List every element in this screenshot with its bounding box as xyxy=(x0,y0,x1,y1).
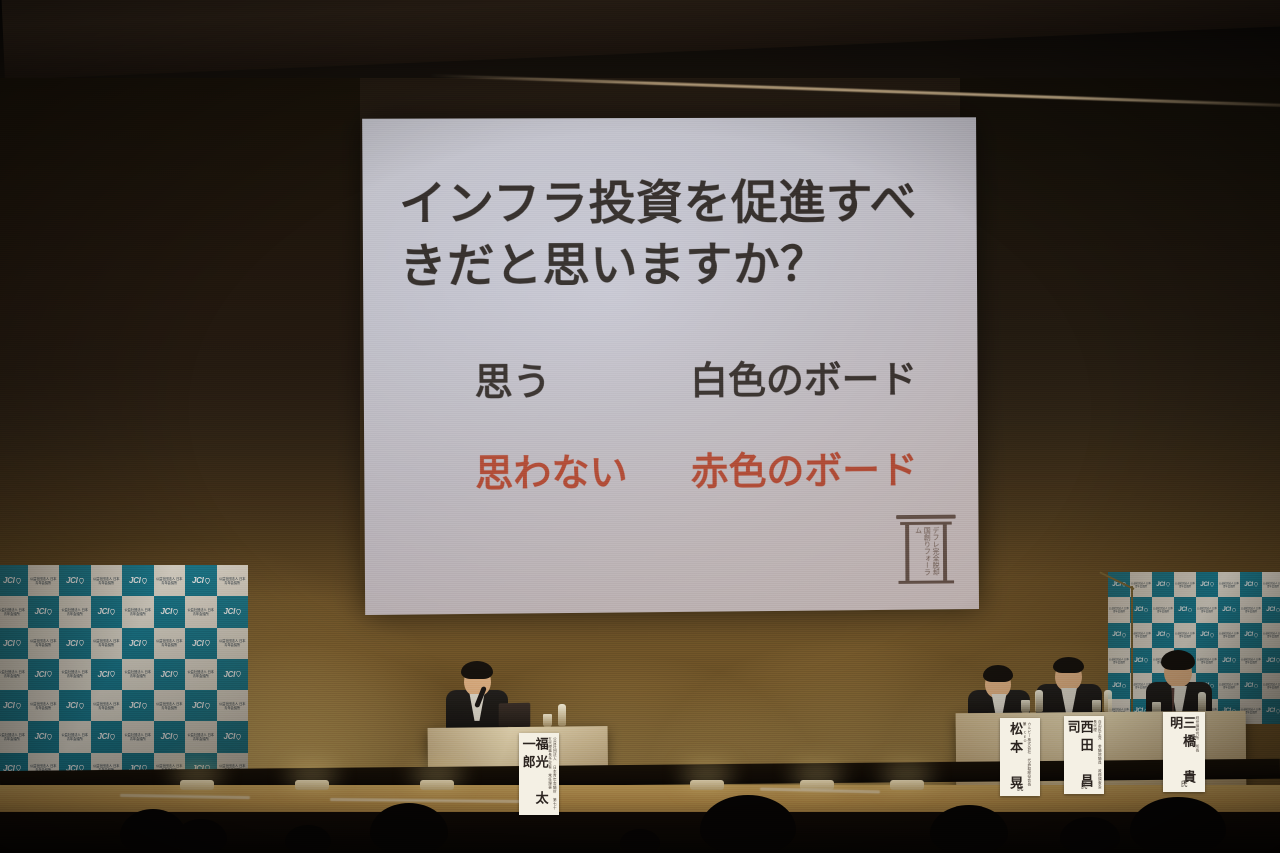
jci-logo: JCI xyxy=(160,607,178,616)
nameplate-honorific: 氏 xyxy=(1163,779,1205,789)
projection-screen: インフラ投資を促進すべきだと思いますか？ 思う 白色のボード 思わない 赤色のボ… xyxy=(362,117,979,615)
jci-logo: JCI xyxy=(1134,607,1147,613)
location-pin-icon xyxy=(79,578,84,584)
backdrop-tile-logo: JCI xyxy=(1240,623,1262,648)
location-pin-icon xyxy=(79,703,84,709)
jci-logo: JCI xyxy=(66,639,84,648)
jci-logo: JCI xyxy=(1156,632,1169,638)
backdrop-tile-logo: JCI xyxy=(1262,597,1280,622)
audience-head-group xyxy=(0,795,1280,853)
backdrop-caption: 公益社団法人 日本青年会議所 xyxy=(122,670,154,678)
audience-head xyxy=(370,803,448,853)
backdrop-tile-caption: 公益社団法人 日本青年会議所 xyxy=(1152,597,1174,622)
location-pin-icon xyxy=(16,703,21,709)
backdrop-caption: 公益社団法人 日本青年会議所 xyxy=(1196,607,1218,613)
nameplate-name: 福光 太一郎 xyxy=(521,737,547,815)
location-pin-icon xyxy=(173,609,178,615)
backdrop-tile-caption: 公益社団法人 日本青年会議所 xyxy=(91,565,123,596)
backdrop-caption: 公益社団法人 日本青年会議所 xyxy=(91,639,123,647)
jci-logo: JCI xyxy=(129,576,147,585)
backdrop-tile-caption: 公益社団法人 日本青年会議所 xyxy=(1108,597,1130,622)
nameplate-honorific: 氏 xyxy=(1064,781,1104,791)
backdrop-caption: 公益社団法人 日本青年会議所 xyxy=(0,670,28,678)
backdrop-caption: 公益社団法人 日本青年会議所 xyxy=(28,702,60,710)
laptop xyxy=(499,703,531,728)
location-pin-icon xyxy=(1276,608,1280,613)
backdrop-tile-logo: JCI xyxy=(1196,623,1218,648)
backdrop-caption: 公益社団法人 日本青年会議所 xyxy=(1108,607,1130,613)
location-pin-icon xyxy=(236,671,241,677)
jci-logo: JCI xyxy=(97,607,115,616)
backdrop-tile-caption: 公益社団法人 日本青年会議所 xyxy=(185,659,217,690)
backdrop-tile-caption: 公益社団法人 日本青年会議所 xyxy=(1262,623,1280,648)
jci-logo: JCI xyxy=(34,732,52,741)
backdrop-tile-logo: JCI xyxy=(1218,648,1240,673)
footlight xyxy=(420,780,454,790)
location-pin-icon xyxy=(142,640,147,646)
backdrop-tile-caption: 公益社団法人 日本青年会議所 xyxy=(1108,648,1130,673)
backdrop-tile-logo: JCI xyxy=(91,596,123,627)
backdrop-tile-logo: JCI xyxy=(154,721,186,752)
wall-shadow-left xyxy=(0,78,360,598)
backdrop-tile-caption: 公益社団法人 日本青年会議所 xyxy=(122,659,154,690)
backdrop-tile-logo: JCI xyxy=(0,565,28,596)
jci-logo: JCI xyxy=(1266,658,1279,664)
nameplate-moderator: 福光 太一郎 公益社団法人 日本青年会議所 第七十五代理事長予定者 常任理事 xyxy=(519,733,559,815)
backdrop-caption: 公益社団法人 日本青年会議所 xyxy=(28,639,60,647)
backdrop-tile-caption: 公益社団法人 日本青年会議所 xyxy=(28,628,60,659)
location-pin-icon xyxy=(1276,709,1280,714)
location-pin-icon xyxy=(110,734,115,740)
backdrop-tile-caption: 公益社団法人 日本青年会議所 xyxy=(59,596,91,627)
backdrop-caption: 公益社団法人 日本青年会議所 xyxy=(154,639,186,647)
jci-logo: JCI xyxy=(1112,632,1125,638)
nameplate-honorific: 氏 xyxy=(1000,783,1040,793)
slide-logo-text: デフレ完全脱却国創りフォーラム xyxy=(914,527,940,579)
backdrop-caption: 公益社団法人 日本青年会議所 xyxy=(1152,607,1174,613)
location-pin-icon xyxy=(1122,684,1126,689)
slide-option-row: 思わない 赤色のボード xyxy=(475,439,955,498)
backdrop-tile-caption: 公益社団法人 日本青年会議所 xyxy=(0,659,28,690)
backdrop-caption: 公益社団法人 日本青年会議所 xyxy=(1218,582,1240,588)
backdrop-tile-caption: 公益社団法人 日本青年会議所 xyxy=(154,628,186,659)
slide-option-row: 思う 白色のボード xyxy=(474,348,954,406)
location-pin-icon xyxy=(236,734,241,740)
backdrop-caption: 公益社団法人 日本青年会議所 xyxy=(1262,683,1280,689)
audience-head xyxy=(1130,797,1226,853)
backdrop-caption: 公益社団法人 日本青年会議所 xyxy=(1262,582,1280,588)
backdrop-tile-caption: 公益社団法人 日本青年会議所 xyxy=(122,596,154,627)
jci-logo: JCI xyxy=(97,670,115,679)
backdrop-tile-logo: JCI xyxy=(1152,623,1174,648)
backdrop-caption: 公益社団法人 日本青年会議所 xyxy=(1262,632,1280,638)
drinking-glass xyxy=(1021,700,1030,713)
backdrop-caption: 公益社団法人 日本青年会議所 xyxy=(59,670,91,678)
backdrop-tile-logo: JCI xyxy=(91,721,123,752)
location-pin-icon xyxy=(173,671,178,677)
backdrop-tile-caption: 公益社団法人 日本青年会議所 xyxy=(1130,572,1152,597)
location-pin-icon xyxy=(205,578,210,584)
backdrop-caption: 公益社団法人 日本青年会議所 xyxy=(185,733,217,741)
jci-logo: JCI xyxy=(1244,582,1257,588)
backdrop-tile-logo: JCI xyxy=(1130,648,1152,673)
backdrop-caption: 公益社団法人 日本青年会議所 xyxy=(185,670,217,678)
jci-logo: JCI xyxy=(1244,683,1257,689)
jci-logo: JCI xyxy=(1222,658,1235,664)
backdrop-tile-logo: JCI xyxy=(1152,572,1174,597)
audience-head xyxy=(175,819,227,853)
option-answer: 思わない xyxy=(475,441,691,498)
backdrop-tile-caption: 公益社団法人 日本青年会議所 xyxy=(154,690,186,721)
jci-logo: JCI xyxy=(3,701,21,710)
jci-logo: JCI xyxy=(223,607,241,616)
backdrop-caption: 公益社団法人 日本青年会議所 xyxy=(1240,658,1262,664)
backdrop-caption: 公益社団法人 日本青年会議所 xyxy=(91,702,123,710)
backdrop-tile-logo: JCI xyxy=(28,721,60,752)
backdrop-caption: 公益社団法人 日本青年会議所 xyxy=(59,733,91,741)
backdrop-tile-caption: 公益社団法人 日本青年会議所 xyxy=(28,690,60,721)
backdrop-tile-logo: JCI xyxy=(1240,572,1262,597)
location-pin-icon xyxy=(1210,633,1214,638)
location-pin-icon xyxy=(1166,633,1170,638)
backdrop-tile-caption: 公益社団法人 日本青年会議所 xyxy=(1240,648,1262,673)
location-pin-icon xyxy=(16,640,21,646)
backdrop-tile-logo: JCI xyxy=(1218,597,1240,622)
backdrop-tile-caption: 公益社団法人 日本青年会議所 xyxy=(217,690,249,721)
location-pin-icon xyxy=(1232,658,1236,663)
backdrop-caption: 公益社団法人 日本青年会議所 xyxy=(1174,632,1196,638)
nameplate-mitsuhashi: 三橋 貴明 経世論研究所 所長 氏 xyxy=(1163,712,1205,792)
option-answer: 思う xyxy=(474,350,690,406)
backdrop-caption: 公益社団法人 日本青年会議所 xyxy=(217,639,249,647)
backdrop-tile-caption: 公益社団法人 日本青年会議所 xyxy=(1262,673,1280,698)
jci-logo: JCI xyxy=(129,639,147,648)
backdrop-tile-logo: JCI xyxy=(28,659,60,690)
backdrop-caption: 公益社団法人 日本青年会議所 xyxy=(154,702,186,710)
jci-logo: JCI xyxy=(1134,658,1147,664)
jci-logo: JCI xyxy=(1266,708,1279,714)
backdrop-tile-logo: JCI xyxy=(1196,572,1218,597)
backdrop-caption: 公益社団法人 日本青年会議所 xyxy=(0,608,28,616)
jci-logo: JCI xyxy=(160,670,178,679)
jci-logo: JCI xyxy=(1156,582,1169,588)
location-pin-icon xyxy=(79,640,84,646)
backdrop-caption: 公益社団法人 日本青年会議所 xyxy=(1130,632,1152,638)
backdrop-tile-caption: 公益社団法人 日本青年会議所 xyxy=(1174,572,1196,597)
backdrop-tile-logo: JCI xyxy=(0,690,28,721)
backdrop-tile-caption: 公益社団法人 日本青年会議所 xyxy=(1218,572,1240,597)
location-pin-icon xyxy=(205,703,210,709)
location-pin-icon xyxy=(16,578,21,584)
option-board: 白色のボード xyxy=(690,349,917,405)
backdrop-tile-caption: 公益社団法人 日本青年会議所 xyxy=(1218,673,1240,698)
jci-logo: JCI xyxy=(1200,582,1213,588)
backdrop-caption: 公益社団法人 日本青年会議所 xyxy=(1218,683,1240,689)
torii-gate-icon: デフレ完全脱却国創りフォーラム xyxy=(896,511,956,587)
backdrop-tile-caption: 公益社団法人 日本青年会議所 xyxy=(28,565,60,596)
backdrop-tile-caption: 公益社団法人 日本青年会議所 xyxy=(59,659,91,690)
backdrop-caption: 公益社団法人 日本青年会議所 xyxy=(185,608,217,616)
audience-head xyxy=(700,795,796,853)
backdrop-tile-logo: JCI xyxy=(0,628,28,659)
footlight xyxy=(295,780,329,790)
backdrop-tile-logo: JCI xyxy=(122,628,154,659)
backdrop-caption: 公益社団法人 日本青年会議所 xyxy=(1108,658,1130,664)
backdrop-tile-logo: JCI xyxy=(122,690,154,721)
footlight xyxy=(180,780,214,790)
jci-logo: JCI xyxy=(192,639,210,648)
option-board: 赤色のボード xyxy=(690,439,917,496)
jci-logo: JCI xyxy=(97,732,115,741)
jci-logo: JCI xyxy=(1112,683,1125,689)
location-pin-icon xyxy=(1254,582,1258,587)
backdrop-tile-caption: 公益社団法人 日本青年会議所 xyxy=(59,721,91,752)
conference-photo: CONFERENCE 2017 JCI インフラ投資を促進すべきだと思いますか？… xyxy=(0,0,1280,853)
nameplate-nishida: 西田 昌司 自由民主党 参議院議員 政務調査会長代理 氏 xyxy=(1064,716,1104,794)
backdrop-caption: 公益社団法人 日本青年会議所 xyxy=(154,577,186,585)
backdrop-tile-caption: 公益社団法人 日本青年会議所 xyxy=(1218,623,1240,648)
location-pin-icon xyxy=(47,609,52,615)
backdrop-tile-caption: 公益社団法人 日本青年会議所 xyxy=(154,565,186,596)
backdrop-tile-logo: JCI xyxy=(122,565,154,596)
slide-question: インフラ投資を促進すべきだと思いますか？ xyxy=(399,172,959,298)
jci-logo: JCI xyxy=(66,701,84,710)
footlight xyxy=(690,780,724,790)
jci-logo: JCI xyxy=(3,639,21,648)
location-pin-icon xyxy=(1122,633,1126,638)
location-pin-icon xyxy=(1166,582,1170,587)
backdrop-tile-logo: JCI xyxy=(59,690,91,721)
location-pin-icon xyxy=(236,609,241,615)
backdrop-tile-caption: 公益社団法人 日本青年会議所 xyxy=(0,596,28,627)
jci-logo: JCI xyxy=(1200,632,1213,638)
backdrop-tile-logo: JCI xyxy=(1130,597,1152,622)
jci-logo: JCI xyxy=(223,732,241,741)
location-pin-icon xyxy=(1232,608,1236,613)
jci-logo: JCI xyxy=(129,701,147,710)
backdrop-tile-logo: JCI xyxy=(154,596,186,627)
nameplate-title: 公益社団法人 日本青年会議所 第七十五代理事長予定者 常任理事 xyxy=(548,737,558,812)
water-bottle xyxy=(1104,690,1112,712)
water-bottle xyxy=(558,704,566,726)
jci-logo: JCI xyxy=(192,701,210,710)
backdrop-tile-caption: 公益社団法人 日本青年会議所 xyxy=(1196,597,1218,622)
jci-logo: JCI xyxy=(1178,607,1191,613)
backdrop-caption: 公益社団法人 日本青年会議所 xyxy=(1218,632,1240,638)
backdrop-caption: 公益社団法人 日本青年会議所 xyxy=(217,702,249,710)
backdrop-caption: 公益社団法人 日本青年会議所 xyxy=(122,733,154,741)
slide-options: 思う 白色のボード 思わない 赤色のボード xyxy=(474,348,954,533)
backdrop-tile-logo: JCI xyxy=(154,659,186,690)
location-pin-icon xyxy=(1144,608,1148,613)
location-pin-icon xyxy=(142,578,147,584)
backdrop-tile-caption: 公益社団法人 日本青年会議所 xyxy=(185,721,217,752)
jci-logo: JCI xyxy=(1266,607,1279,613)
jci-logo: JCI xyxy=(1222,607,1235,613)
backdrop-tile-logo: JCI xyxy=(1174,597,1196,622)
location-pin-icon xyxy=(1144,658,1148,663)
backdrop-tile-logo: JCI xyxy=(1262,648,1280,673)
backdrop-caption: 公益社団法人 日本青年会議所 xyxy=(1196,658,1218,664)
location-pin-icon xyxy=(1254,684,1258,689)
location-pin-icon xyxy=(1210,582,1214,587)
location-pin-icon xyxy=(110,671,115,677)
location-pin-icon xyxy=(110,609,115,615)
location-pin-icon xyxy=(1276,658,1280,663)
location-pin-icon xyxy=(47,671,52,677)
backdrop-tile-caption: 公益社団法人 日本青年会議所 xyxy=(1174,623,1196,648)
location-pin-icon xyxy=(1188,608,1192,613)
backdrop-tile-caption: 公益社団法人 日本青年会議所 xyxy=(1262,572,1280,597)
backdrop-tile-logo: JCI xyxy=(1262,699,1280,724)
audience-head xyxy=(930,805,1008,853)
backdrop-caption: 公益社団法人 日本青年会議所 xyxy=(1174,582,1196,588)
nameplate-title: 経世論研究所 所長 xyxy=(1195,716,1200,752)
location-pin-icon xyxy=(142,703,147,709)
location-pin-icon xyxy=(173,734,178,740)
backdrop-tile-caption: 公益社団法人 日本青年会議所 xyxy=(1240,597,1262,622)
backdrop-tile-logo: JCI xyxy=(59,565,91,596)
jci-logo: JCI xyxy=(66,576,84,585)
jci-logo: JCI xyxy=(192,576,210,585)
water-bottle xyxy=(1035,690,1043,712)
jci-logo: JCI xyxy=(1244,632,1257,638)
backdrop-tile-caption: 公益社団法人 日本青年会議所 xyxy=(91,628,123,659)
backdrop-tile-logo: JCI xyxy=(217,596,249,627)
backdrop-tile-logo: JCI xyxy=(217,659,249,690)
backdrop-tile-logo: JCI xyxy=(1108,623,1130,648)
jci-logo: JCI xyxy=(34,670,52,679)
backdrop-tile-logo: JCI xyxy=(1240,673,1262,698)
backdrop-tile-logo: JCI xyxy=(28,596,60,627)
drinking-glass xyxy=(543,714,552,727)
backdrop-caption: 公益社団法人 日本青年会議所 xyxy=(59,608,91,616)
backdrop-tile-caption: 公益社団法人 日本青年会議所 xyxy=(122,721,154,752)
jci-logo: JCI xyxy=(3,576,21,585)
backdrop-tile-caption: 公益社団法人 日本青年会議所 xyxy=(185,596,217,627)
wall-shadow-right xyxy=(960,78,1280,578)
audience-head xyxy=(285,825,331,853)
jci-logo: JCI xyxy=(160,732,178,741)
backdrop-tile-caption: 公益社団法人 日本青年会議所 xyxy=(217,565,249,596)
backdrop-tile-logo: JCI xyxy=(59,628,91,659)
backdrop-tile-caption: 公益社団法人 日本青年会議所 xyxy=(217,628,249,659)
location-pin-icon xyxy=(47,734,52,740)
jci-logo: JCI xyxy=(223,670,241,679)
backdrop-caption: 公益社団法人 日本青年会議所 xyxy=(28,577,60,585)
location-pin-icon xyxy=(205,640,210,646)
nameplate-matsumoto: 松本 晃 カルビー株式会社 代表取締役会長 兼 CEO 氏 xyxy=(1000,718,1040,796)
backdrop-caption: 公益社団法人 日本青年会議所 xyxy=(0,733,28,741)
backdrop-tile-caption: 公益社団法人 日本青年会議所 xyxy=(1196,648,1218,673)
backdrop-tile-logo: JCI xyxy=(185,628,217,659)
location-pin-icon xyxy=(1254,633,1258,638)
backdrop-caption: 公益社団法人 日本青年会議所 xyxy=(1240,607,1262,613)
backdrop-tile-caption: 公益社団法人 日本青年会議所 xyxy=(0,721,28,752)
backdrop-tile-logo: JCI xyxy=(217,721,249,752)
backdrop-tile-logo: JCI xyxy=(185,690,217,721)
backdrop-tile-caption: 公益社団法人 日本青年会議所 xyxy=(91,690,123,721)
backdrop-tile-logo: JCI xyxy=(185,565,217,596)
audience-head xyxy=(1060,817,1120,853)
jci-logo: JCI xyxy=(34,607,52,616)
backdrop-tile-logo: JCI xyxy=(91,659,123,690)
backdrop-caption: 公益社団法人 日本青年会議所 xyxy=(217,577,249,585)
backdrop-caption: 公益社団法人 日本青年会議所 xyxy=(122,608,154,616)
footlight xyxy=(890,780,924,790)
backdrop-tile-caption: 公益社団法人 日本青年会議所 xyxy=(1130,623,1152,648)
backdrop-caption: 公益社団法人 日本青年会議所 xyxy=(91,577,123,585)
audience-head xyxy=(620,829,660,853)
